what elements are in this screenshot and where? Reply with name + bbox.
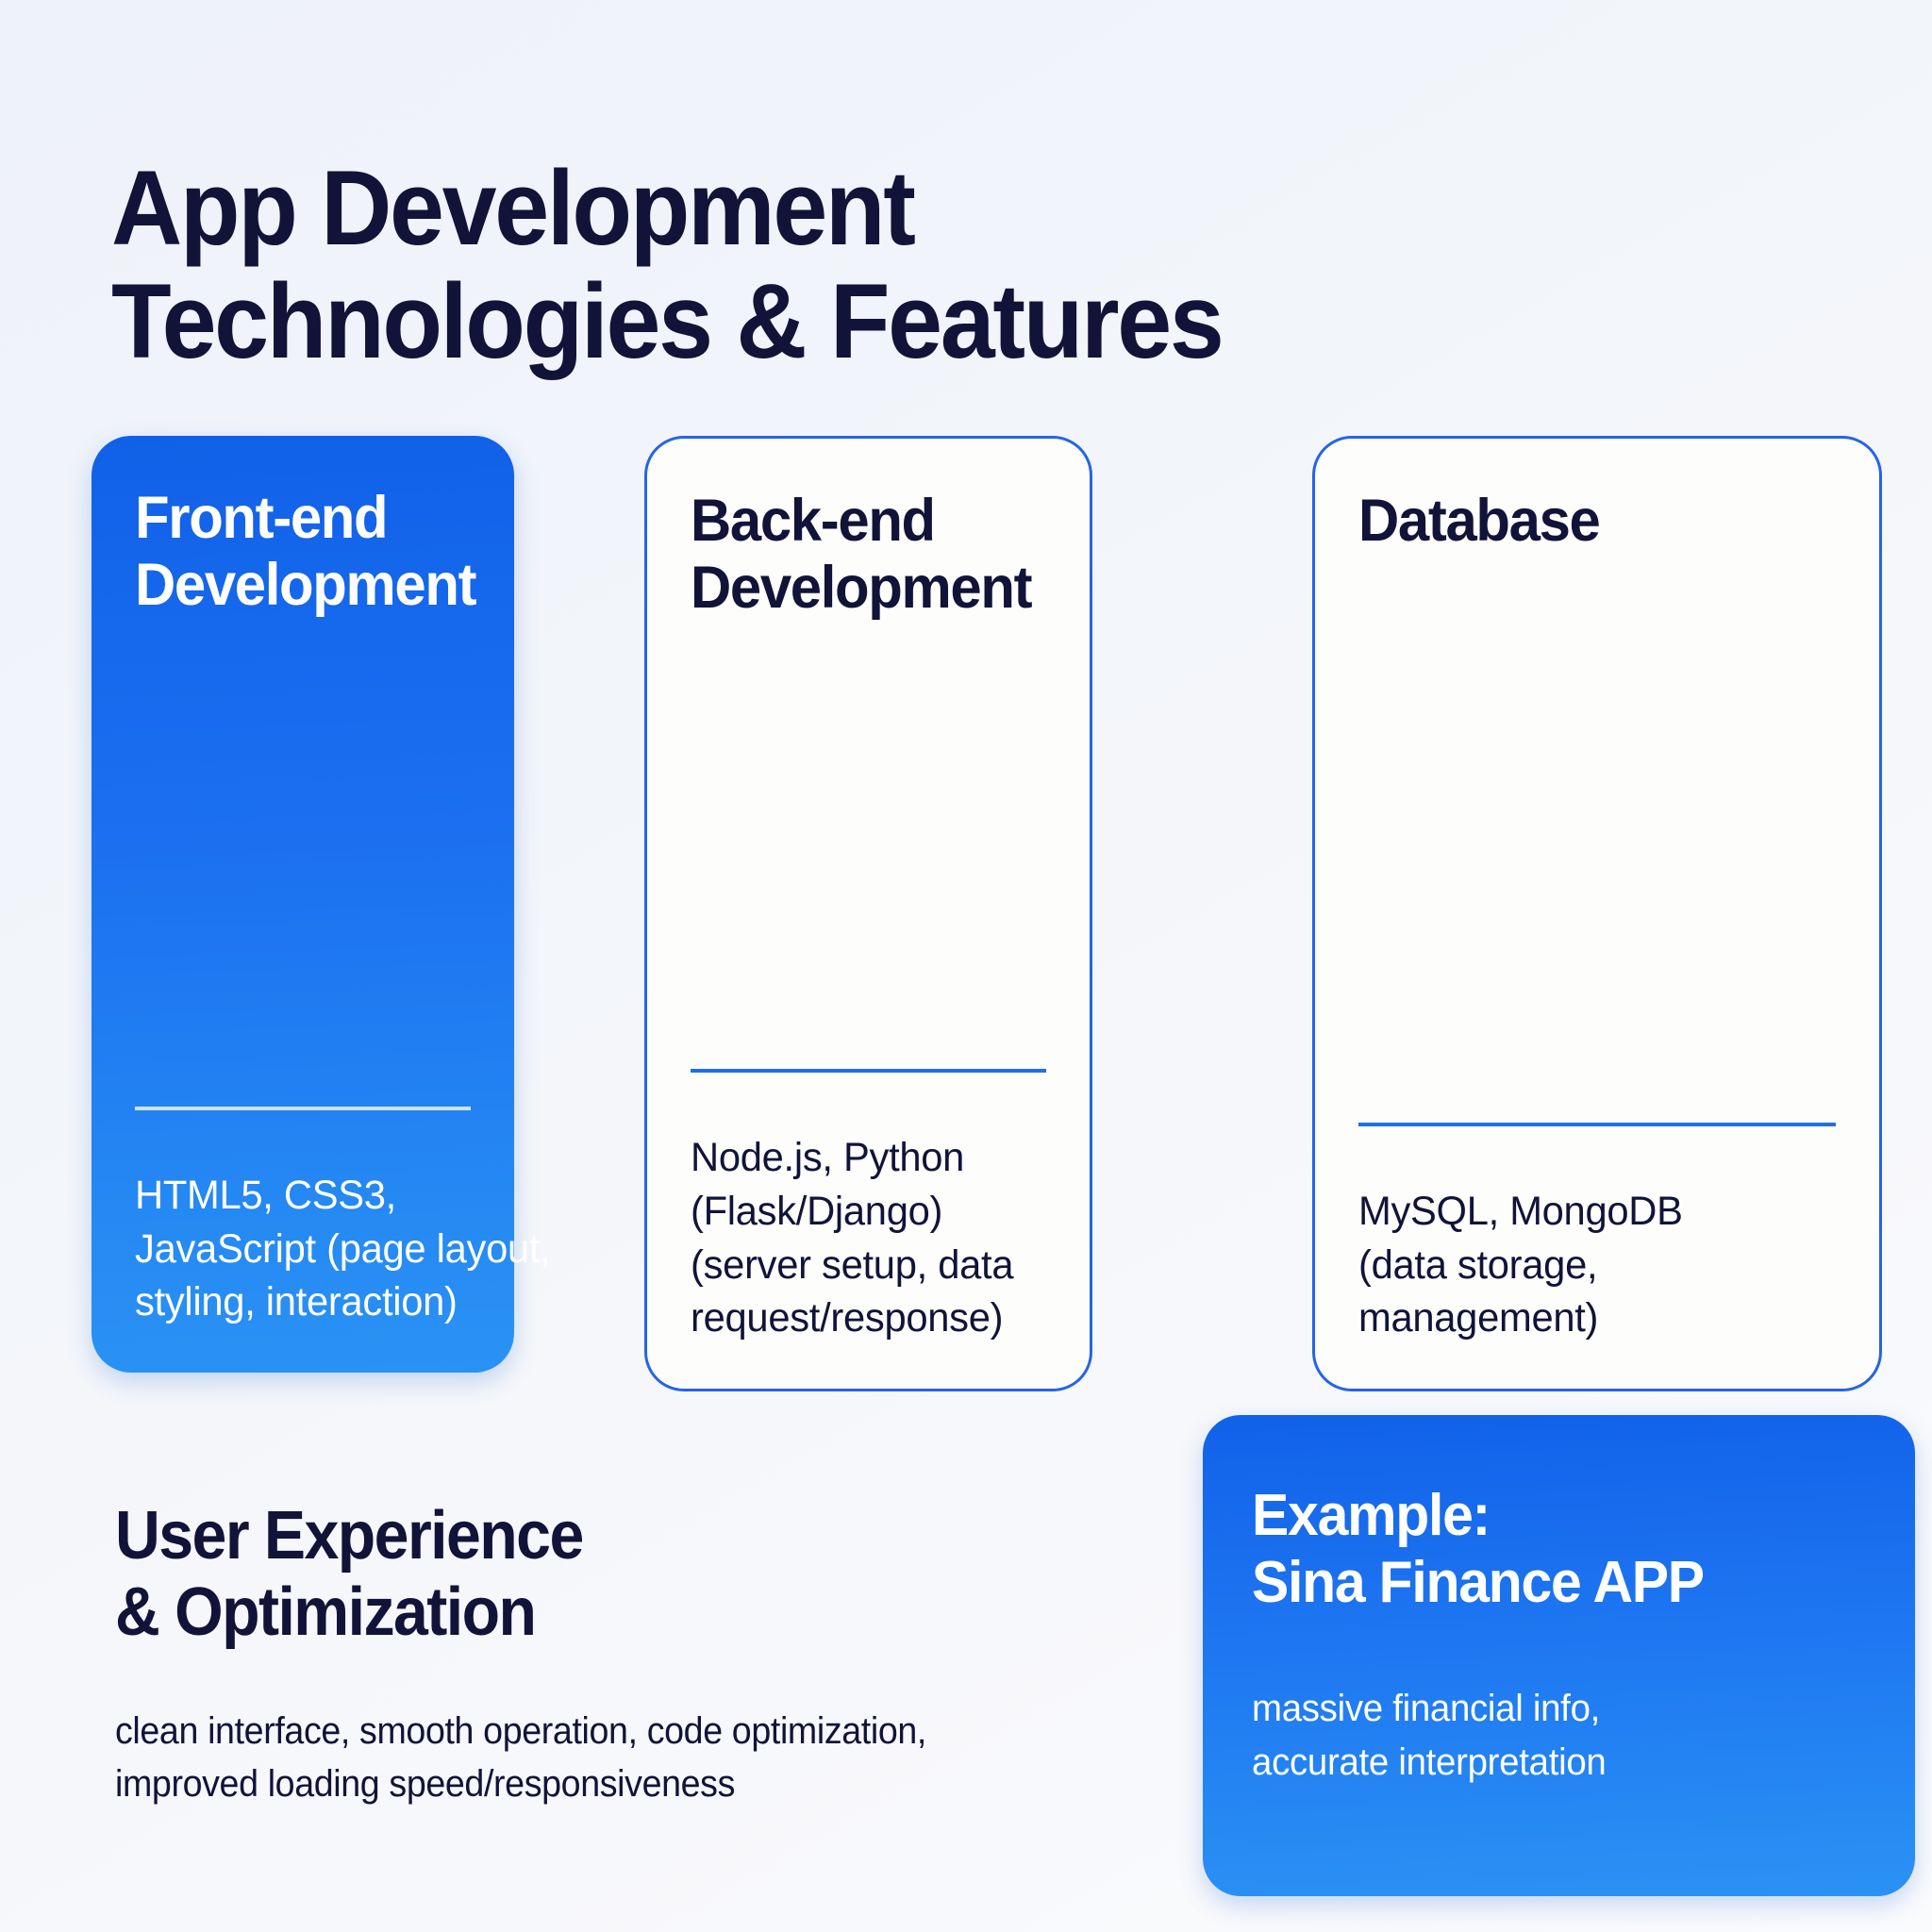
example-heading: Example: Sina Finance APP — [1252, 1483, 1835, 1616]
example-body-line-1: massive financial info, — [1252, 1682, 1841, 1736]
card-back-end-heading: Back-end Development — [691, 488, 1028, 622]
page-title-line-1: App Development — [111, 152, 1515, 265]
page-title: App Development Technologies & Features — [111, 152, 1515, 378]
infographic-poster: App Development Technologies & Features … — [0, 0, 1932, 1932]
user-experience-heading-line-2: & Optimization — [115, 1574, 1087, 1651]
card-back-end-spacer — [691, 622, 1046, 1069]
user-experience-heading-line-1: User Experience — [115, 1498, 1087, 1574]
example-body: massive financial info, accurate interpr… — [1252, 1682, 1841, 1790]
user-experience-heading: User Experience & Optimization — [115, 1498, 1087, 1652]
card-database-heading: Database — [1358, 488, 1812, 555]
card-back-end-development[interactable]: Back-end Development Node.js, Python (Fl… — [644, 436, 1092, 1391]
card-front-end-body-line-3: styling, interaction) — [135, 1275, 460, 1329]
example-heading-line-2: Sina Finance APP — [1252, 1550, 1835, 1617]
card-database-body: MySQL, MongoDB (data storage, management… — [1358, 1185, 1822, 1345]
card-front-end-divider — [135, 1107, 471, 1110]
card-front-end-development[interactable]: Front-end Development HTML5, CSS3, JavaS… — [92, 436, 514, 1373]
card-back-end-heading-line-2: Development — [691, 555, 1028, 622]
card-database-body-line-2: (data storage, — [1358, 1239, 1822, 1292]
card-front-end-body: HTML5, CSS3, JavaScript (page layout, st… — [135, 1169, 460, 1329]
card-database-heading-line-1: Database — [1358, 488, 1812, 555]
user-experience-section: User Experience & Optimization clean int… — [115, 1498, 1172, 1810]
card-back-end-body-line-2: (Flask/Django) — [691, 1185, 1036, 1239]
card-front-end-body-line-2: JavaScript (page layout, — [135, 1223, 460, 1276]
card-front-end-spacer — [135, 619, 471, 1106]
card-back-end-heading-line-1: Back-end — [691, 488, 1028, 555]
user-experience-body-line-2: improved loading speed/responsiveness — [115, 1757, 1108, 1810]
example-sina-finance-card[interactable]: Example: Sina Finance APP massive financ… — [1203, 1415, 1915, 1896]
technology-card-row: Front-end Development HTML5, CSS3, JavaS… — [92, 436, 1884, 1393]
card-front-end-heading: Front-end Development — [135, 485, 454, 619]
page-title-line-2: Technologies & Features — [111, 265, 1515, 378]
card-database-body-line-3: management) — [1358, 1291, 1822, 1345]
card-front-end-heading-line-2: Development — [135, 552, 454, 619]
card-back-end-body-line-4: request/response) — [691, 1291, 1036, 1345]
example-body-line-2: accurate interpretation — [1252, 1736, 1841, 1790]
user-experience-body: clean interface, smooth operation, code … — [115, 1705, 1108, 1810]
card-back-end-body-line-3: (server setup, data — [691, 1239, 1036, 1292]
card-back-end-body: Node.js, Python (Flask/Django) (server s… — [691, 1131, 1036, 1345]
card-database-divider — [1358, 1123, 1836, 1126]
example-heading-line-1: Example: — [1252, 1483, 1835, 1550]
user-experience-body-line-1: clean interface, smooth operation, code … — [115, 1705, 1108, 1757]
card-front-end-heading-line-1: Front-end — [135, 485, 454, 552]
card-database-spacer — [1358, 555, 1836, 1123]
card-back-end-divider — [691, 1069, 1046, 1073]
card-database[interactable]: Database MySQL, MongoDB (data storage, m… — [1312, 436, 1882, 1391]
card-front-end-body-line-1: HTML5, CSS3, — [135, 1169, 460, 1223]
card-back-end-body-line-1: Node.js, Python — [691, 1131, 1036, 1185]
card-database-body-line-1: MySQL, MongoDB — [1358, 1185, 1822, 1239]
